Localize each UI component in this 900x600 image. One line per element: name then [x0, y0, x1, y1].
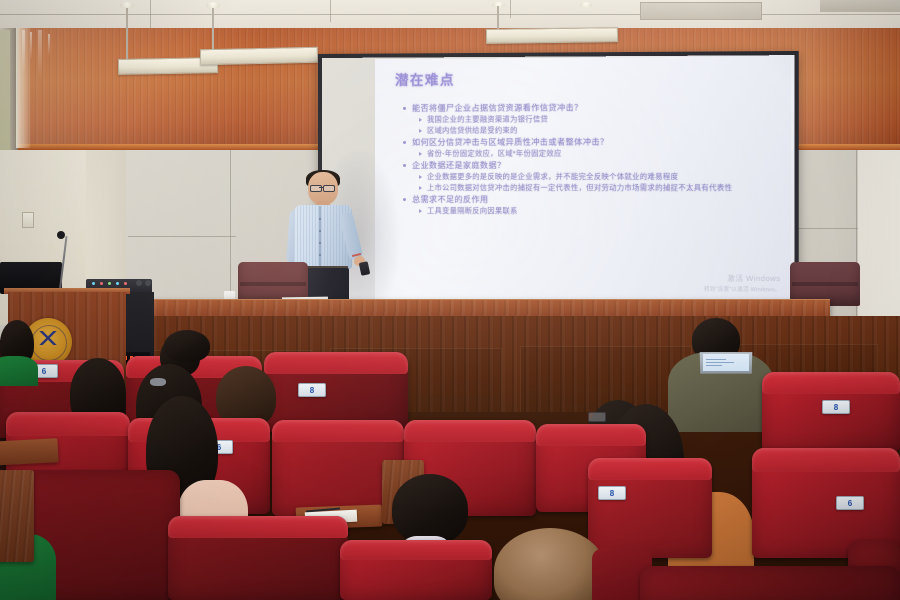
shirt-button [319, 254, 321, 256]
glasses-icon [588, 412, 606, 422]
mixer-dial[interactable] [145, 280, 151, 286]
seat-headrest [168, 516, 348, 538]
mixer-knob[interactable] [92, 282, 95, 285]
ceiling-seam [510, 0, 511, 18]
bullet-triangle-icon [419, 175, 422, 179]
slide-bullet-l2: 工具变量隔断反向因果联系 [419, 206, 781, 217]
bullet-dot-icon [403, 141, 406, 144]
mixer-dial[interactable] [136, 280, 142, 286]
bullet-dot-icon [403, 198, 406, 201]
screen-content-line [706, 359, 726, 360]
bullet-triangle-icon [419, 129, 422, 133]
ceiling-vent [820, 0, 900, 12]
wall-stain [48, 34, 50, 56]
screen-content-line [706, 362, 734, 363]
slide-bullet-l1: 能否将僵尸企业占据信贷资源看作信贷冲击？ [403, 101, 781, 113]
presentation-clicker[interactable] [359, 261, 371, 276]
seat-headrest [752, 448, 900, 472]
seat-headrest [272, 420, 404, 442]
slide-title: 潜在难点 [395, 69, 455, 89]
tablet-arm-desk[interactable] [0, 438, 59, 466]
hair-clip [150, 378, 166, 386]
conference-room-photo: 潜在难点 能否将僵尸企业占据信贷资源看作信贷冲击？ 我国企业的主要融资渠道为银行… [0, 0, 900, 600]
seat-number-plate: 8 [822, 400, 850, 414]
seat[interactable] [640, 566, 900, 600]
attendee-head [392, 474, 468, 544]
shirt-button [319, 242, 321, 244]
slide-bullet-l1: 如何区分信贷冲击与区域异质性冲击或者整体冲击？ [403, 136, 781, 148]
seat-headrest [536, 424, 646, 446]
bullet-triangle-icon [419, 118, 422, 122]
seat-number-plate: 6 [836, 496, 864, 510]
projected-slide: 潜在难点 能否将僵尸企业占据信贷资源看作信贷冲击？ 我国企业的主要融资渠道为银行… [375, 56, 791, 301]
slide-bullet-l2: 省份-年份固定效应，区域*年份固定效应 [419, 148, 781, 159]
shirt-button [319, 218, 321, 220]
seat-headrest [404, 420, 536, 442]
slide-bullet-l2: 我国企业的主要融资渠道为银行信贷 [419, 114, 781, 125]
mixer-knob[interactable] [108, 282, 111, 285]
shirt-placket [319, 206, 321, 268]
shirt-button [319, 230, 321, 232]
pendant-light [486, 27, 618, 44]
seat-headrest [6, 412, 130, 436]
stage-chair-crease [240, 282, 306, 286]
ceiling-seam [0, 14, 900, 15]
windows-activation-watermark: 激活 Windows 转到"设置"以激活 Windows。 [704, 273, 781, 294]
attendee-head [164, 330, 210, 362]
seat-headrest [340, 540, 492, 560]
ceiling-seam [150, 0, 151, 30]
wall-panel-seam [128, 236, 236, 237]
glasses-icon [323, 185, 335, 192]
slide-bullet-l1: 企业数据还是家庭数据？ [403, 160, 781, 171]
microphone-icon[interactable] [57, 231, 65, 239]
stage-chair-crease [792, 282, 858, 286]
ceiling-vent [640, 2, 762, 20]
slide-bullet-l2: 企业数据更多的是反映的是企业需求，并不能完全反映个体就业的难易程度 [419, 172, 781, 182]
seat-headrest [588, 458, 712, 480]
mixer-knob[interactable] [100, 282, 103, 285]
wall-stain [30, 32, 32, 60]
slide-bullet-l2: 上市公司数据对信贷冲击的捕捉有一定代表性，但对劳动力市场需求的捕捉不太具有代表性 [419, 183, 781, 193]
attendee-shoulders [0, 356, 38, 386]
bullet-triangle-icon [419, 152, 422, 156]
bullet-triangle-icon [419, 186, 422, 190]
right-wall-column [858, 150, 900, 340]
glasses-bridge [319, 187, 324, 188]
slide-bullet-l1: 总需求不足的反作用 [403, 194, 781, 206]
mixer-knob[interactable] [116, 282, 119, 285]
armrest[interactable] [0, 470, 34, 562]
crest-mark [36, 331, 60, 345]
light-rod [126, 8, 128, 60]
mixer-knob[interactable] [124, 282, 127, 285]
bullet-triangle-icon [419, 209, 422, 213]
seat-headrest [762, 372, 900, 394]
screen-content-line [706, 365, 722, 366]
pendant-light [200, 47, 318, 65]
wall-panel-seam [856, 150, 857, 340]
seat-headrest [264, 352, 408, 374]
slide-body: 能否将僵尸企业占据信贷资源看作信贷冲击？ 我国企业的主要融资渠道为银行信贷 区域… [403, 101, 781, 217]
light-rod [212, 8, 214, 50]
slide-bullet-l2: 区域内信贷供给是受约束的 [419, 125, 781, 136]
wall-stain [38, 30, 42, 80]
bullet-dot-icon [403, 164, 406, 167]
wall-highlight [16, 28, 30, 148]
bullet-dot-icon [403, 107, 406, 110]
light-canopy [580, 2, 592, 8]
ceiling-seam [330, 0, 331, 22]
seat-number-plate: 8 [598, 486, 626, 500]
seat-number-plate: 8 [298, 383, 326, 397]
wall-switch[interactable] [22, 212, 34, 228]
